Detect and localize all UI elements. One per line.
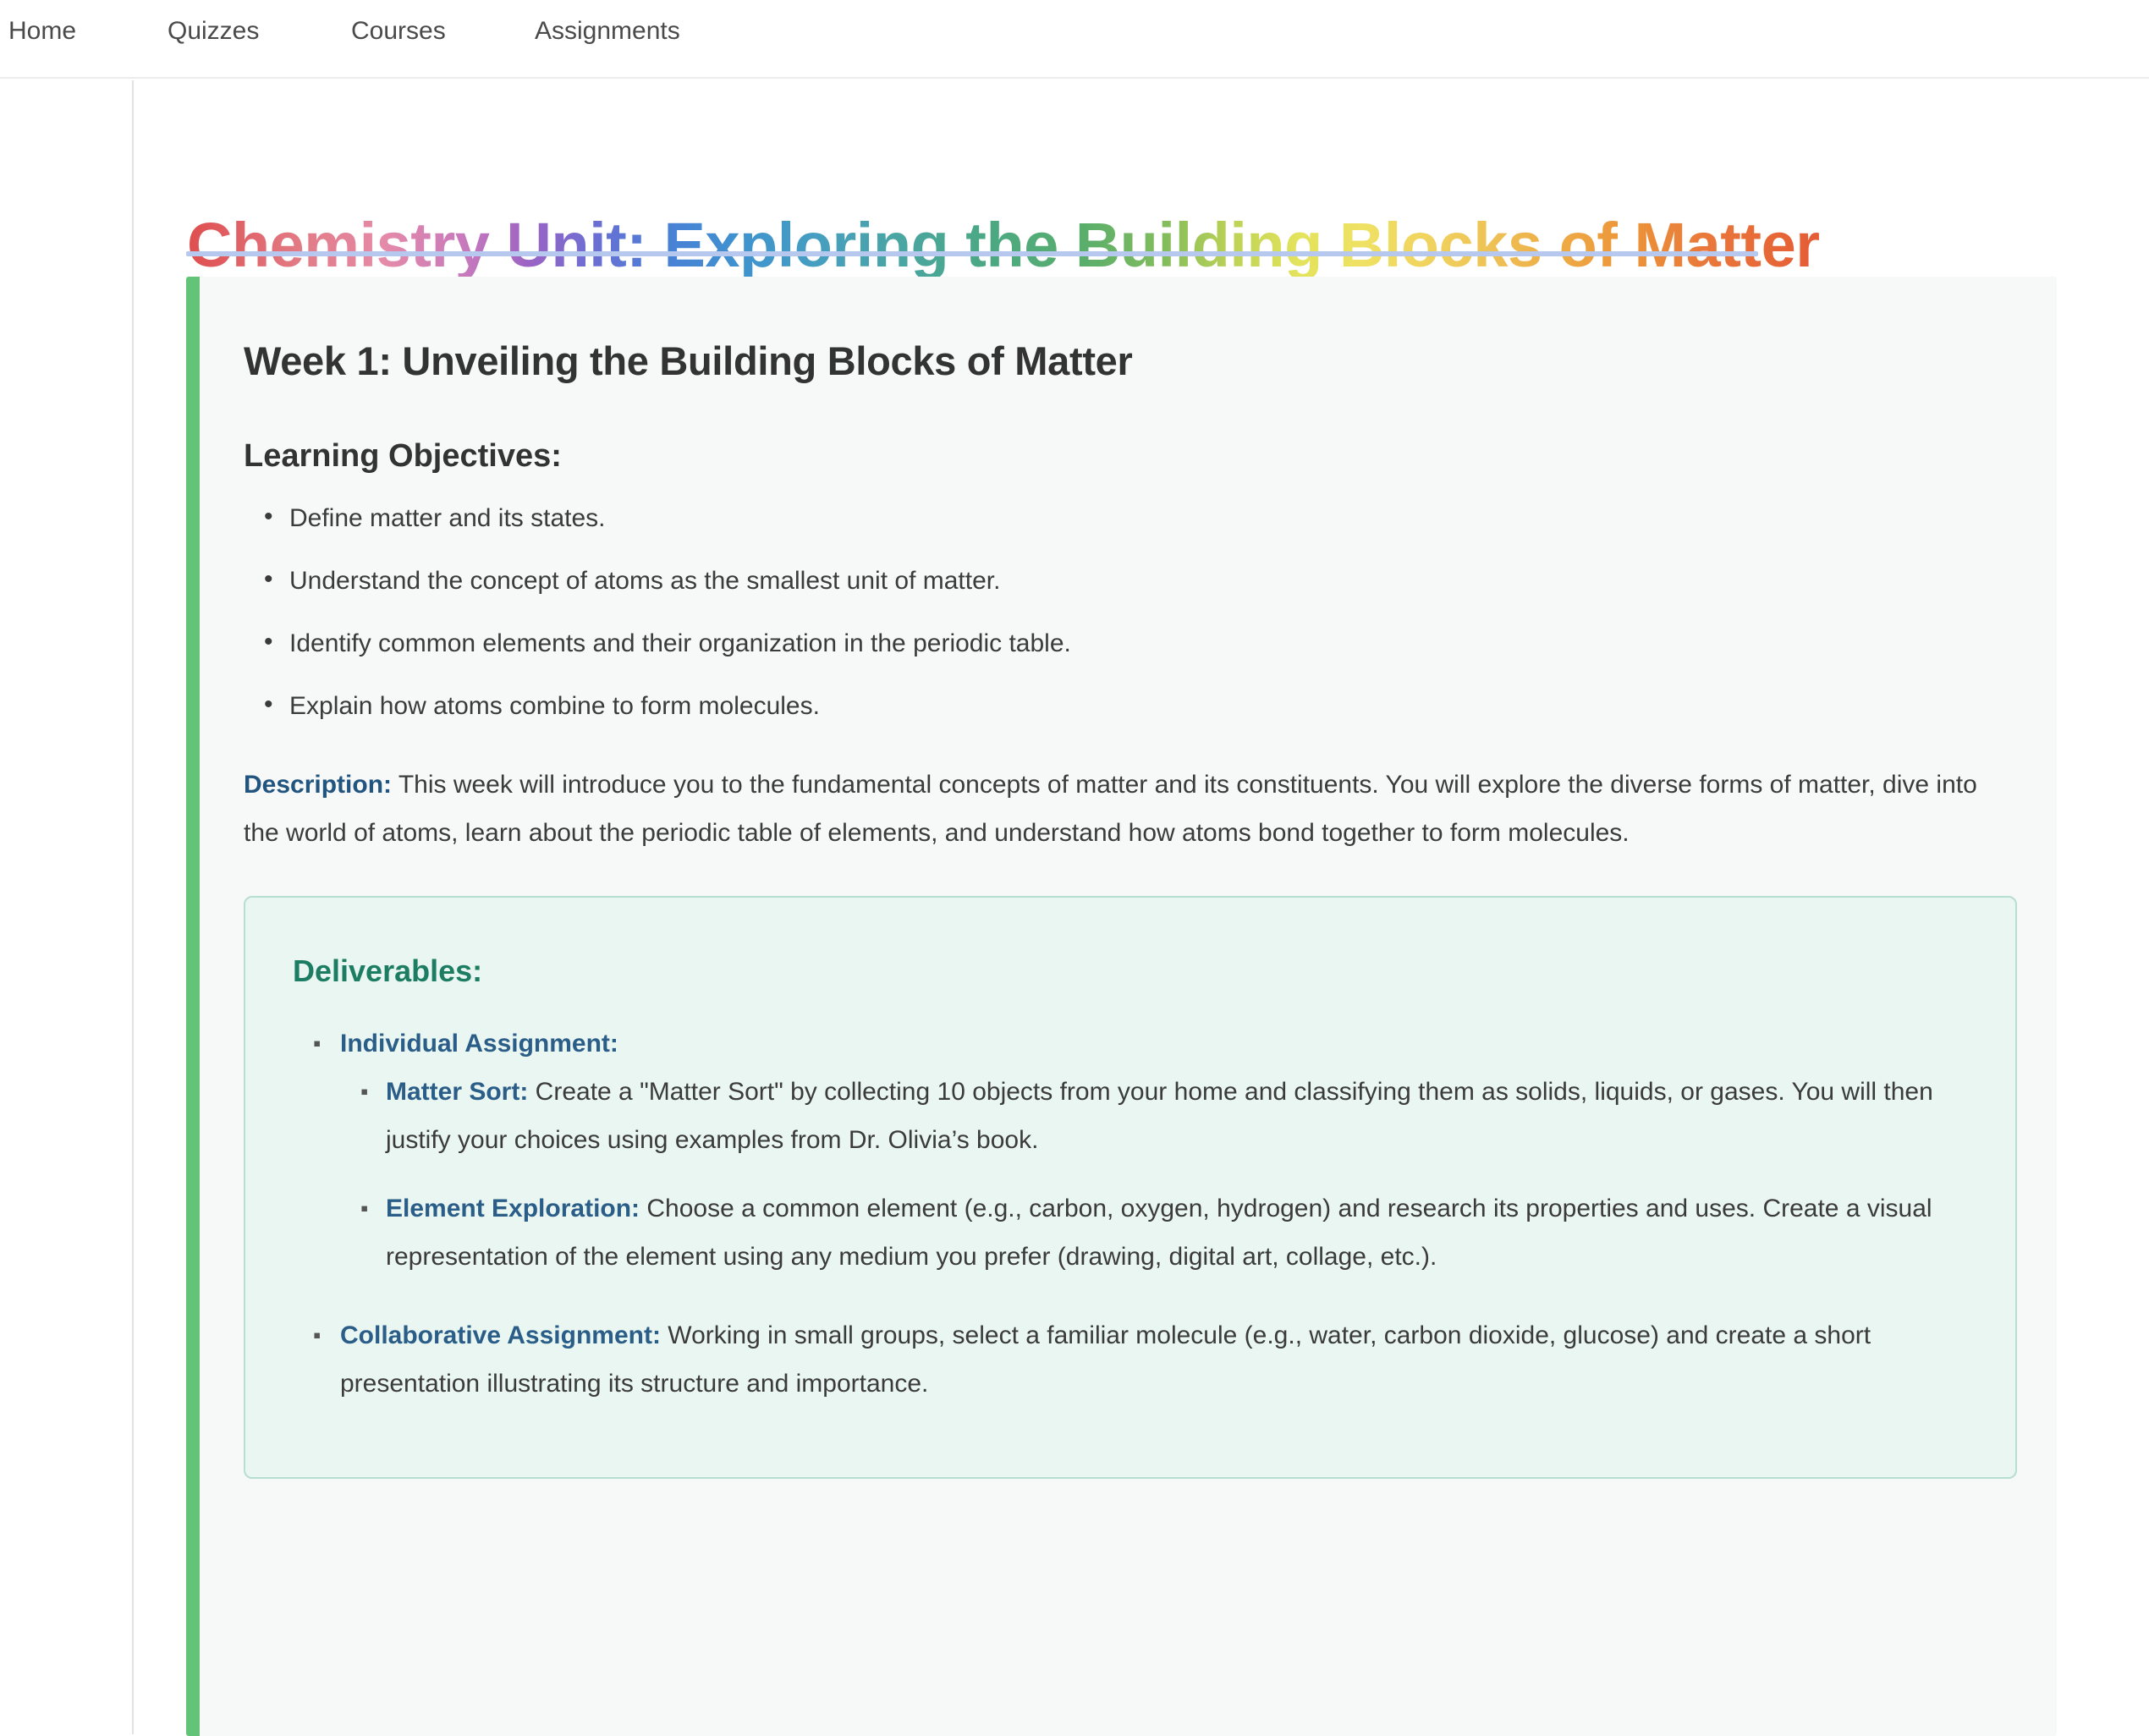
top-navigation-bar: Home Quizzes Courses Assignments [0, 0, 2149, 79]
page-body: Chemistry Unit: Exploring the Building B… [0, 80, 2149, 1734]
list-item-collaborative-assignment: Collaborative Assignment: Working in sma… [340, 1311, 1968, 1408]
deliverables-box: Deliverables: Individual Assignment: Mat… [244, 896, 2017, 1479]
list-item: Element Exploration: Choose a common ele… [386, 1184, 1968, 1281]
nav-item-quizzes[interactable]: Quizzes [168, 15, 259, 47]
week-heading: Week 1: Unveiling the Building Blocks of… [244, 336, 2008, 387]
description-label: Description: [244, 771, 392, 799]
list-item-individual-assignment: Individual Assignment: Matter Sort: Crea… [340, 1019, 1968, 1281]
individual-assignment-sublist: Matter Sort: Create a "Matter Sort" by c… [340, 1068, 1968, 1281]
week-description: Description: This week will introduce yo… [244, 761, 2008, 857]
week-card-inner: Week 1: Unveiling the Building Blocks of… [200, 277, 2057, 1479]
title-divider-rule [186, 251, 1758, 256]
main-content-column: Chemistry Unit: Exploring the Building B… [135, 80, 2149, 1734]
matter-sort-label: Matter Sort: [386, 1078, 528, 1106]
matter-sort-text: Create a "Matter Sort" by collecting 10 … [386, 1078, 1933, 1154]
left-rail-divider [0, 80, 134, 1734]
nav-item-home[interactable]: Home [8, 15, 76, 47]
list-item: Understand the concept of atoms as the s… [289, 564, 2008, 598]
deliverables-list: Individual Assignment: Matter Sort: Crea… [293, 1019, 1968, 1408]
nav-item-assignments[interactable]: Assignments [535, 15, 680, 47]
description-text: This week will introduce you to the fund… [244, 771, 1977, 847]
element-exploration-label: Element Exploration: [386, 1195, 640, 1222]
individual-assignment-label: Individual Assignment: [340, 1030, 618, 1058]
deliverables-heading: Deliverables: [293, 952, 1968, 991]
page-title: Chemistry Unit: Exploring the Building B… [187, 207, 1820, 283]
list-item: Define matter and its states. [289, 502, 2008, 536]
list-item: Identify common elements and their organ… [289, 627, 2008, 661]
collaborative-assignment-label: Collaborative Assignment: [340, 1321, 661, 1349]
nav-item-courses[interactable]: Courses [351, 15, 446, 47]
learning-objectives-list: Define matter and its states. Understand… [244, 502, 2008, 723]
learning-objectives-heading: Learning Objectives: [244, 436, 2008, 476]
list-item: Explain how atoms combine to form molecu… [289, 689, 2008, 723]
list-item: Matter Sort: Create a "Matter Sort" by c… [386, 1068, 1968, 1164]
week-module-card: Week 1: Unveiling the Building Blocks of… [186, 277, 2057, 1736]
